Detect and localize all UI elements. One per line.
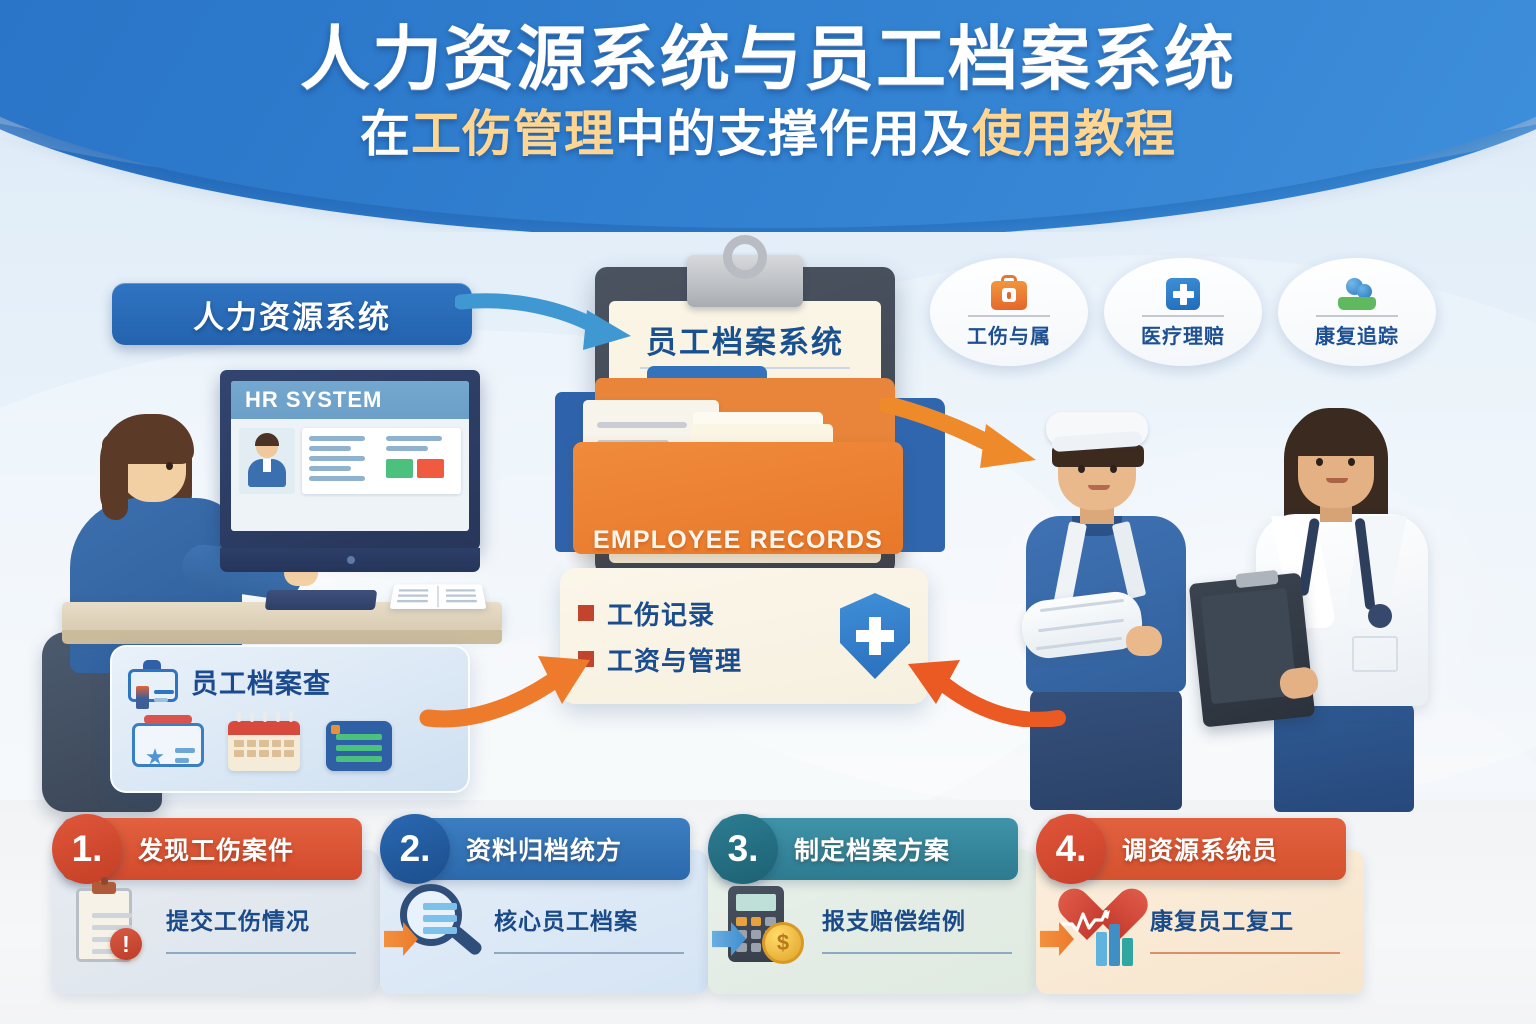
monitor-power-dot: [347, 556, 355, 564]
step-1-connector: [384, 922, 418, 956]
worker-legs: [1030, 688, 1182, 810]
bullet-square-icon: [578, 605, 594, 621]
step-3-header-text: 制定档案方案: [794, 831, 950, 867]
open-book: [390, 584, 487, 609]
document-icon: [324, 715, 398, 771]
book-lines-right: [446, 589, 476, 591]
bubble-injury-care[interactable]: 工伤与属: [930, 258, 1088, 366]
step-2-connector: [712, 922, 746, 956]
hr-record-view: [231, 419, 469, 503]
insurance-card-body: [132, 723, 204, 767]
clipboard-alert-icon: !: [70, 880, 152, 972]
bullet-text: 工资与管理: [607, 641, 742, 678]
badge-line-2: [154, 698, 168, 702]
bubble-divider: [1142, 315, 1224, 317]
insurance-line-2: [175, 758, 189, 763]
process-steps: 发现工伤案件 1. ! 提交工伤情况: [52, 818, 1484, 998]
kit-lock: [1002, 288, 1016, 302]
bubble-recovery[interactable]: 康复追踪: [1278, 258, 1436, 366]
bubble-label: 康复追踪: [1315, 320, 1399, 349]
badge-line-1: [154, 690, 174, 694]
step-4-content: 康复员工复工: [1054, 866, 1348, 986]
keyboard: [265, 590, 377, 610]
stethoscope-bell-icon: [1368, 604, 1392, 628]
bubble-label: 医疗理赔: [1141, 320, 1225, 349]
badge-photo: [136, 686, 149, 709]
clipboard-title: 员工档案系统: [595, 317, 895, 362]
calendar-icon: [228, 715, 302, 771]
step-2-header-text: 资料归档统方: [466, 831, 622, 867]
avatar-hair: [255, 433, 279, 446]
worker-eye-left: [1078, 465, 1085, 473]
doctor-mouth: [1326, 478, 1348, 483]
clipboard-line: [92, 913, 132, 918]
subtitle-part-2: 中的支撑作用及: [615, 105, 972, 163]
doctor-illustration: [1218, 386, 1468, 810]
detail-line: [309, 446, 351, 451]
subtitle-highlight-2: 使用教程: [972, 105, 1176, 163]
calendar-grid: [228, 735, 300, 762]
infographic-canvas: 人力资源系统与员工档案系统 在工伤管理中的支撑作用及使用教程 人力资源系统 HR…: [0, 0, 1536, 1024]
monitor-screen: HR SYSTEM: [231, 381, 469, 531]
status-swatch-green: [386, 459, 413, 478]
calendar-header: [228, 721, 300, 735]
detail-line: [386, 436, 442, 441]
detail-line: [309, 466, 351, 471]
detail-column-left: [309, 436, 377, 486]
status-swatch-red: [417, 459, 444, 478]
step-1-content: ! 提交工伤情况: [70, 866, 364, 986]
hr-monitor: HR SYSTEM: [220, 370, 480, 570]
first-aid-kit-icon: [989, 275, 1029, 311]
subtitle-highlight-1: 工伤管理: [411, 105, 615, 163]
step-card-4[interactable]: 调资源系统员 4. 康复员工复工: [1036, 818, 1364, 994]
step-3-connector: [1040, 922, 1074, 956]
bubble-medical-claim[interactable]: 医疗理赔: [1104, 258, 1262, 366]
list-item: 工伤记录: [578, 595, 834, 632]
doctor-hair: [1290, 408, 1382, 456]
status-swatches: [386, 459, 454, 478]
coin-icon: $: [762, 922, 804, 964]
bubble-label: 工伤与属: [967, 320, 1051, 349]
paper-line: [597, 422, 687, 428]
detail-line: [309, 436, 365, 441]
coat-pocket: [1352, 636, 1398, 672]
doctor-eye-right: [1348, 458, 1355, 466]
detail-line: [386, 446, 428, 451]
recovery-icon: [1337, 275, 1377, 311]
magnifier-line: [423, 915, 457, 922]
workplace-injury-summary-card: 工伤记录 工资与管理: [560, 568, 928, 704]
insurance-card-icon: [132, 715, 206, 771]
archive-card-header: 员工档案查: [128, 660, 452, 702]
medical-shield-icon: [840, 593, 910, 679]
desk-edge: [62, 630, 502, 644]
employee-avatar: [239, 428, 295, 494]
magnifier-line: [423, 927, 457, 934]
alert-exclamation-icon: !: [110, 928, 142, 960]
subtitle-part-1: 在: [360, 105, 411, 163]
step-4-text-wrap: 康复员工复工: [1150, 898, 1348, 954]
worker-eye-right: [1110, 465, 1117, 473]
worker-mouth: [1088, 485, 1110, 490]
archive-icon-row: [128, 715, 452, 771]
step-4-text: 康复员工复工: [1150, 902, 1348, 936]
page-title: 人力资源系统与员工档案系统: [0, 22, 1536, 96]
recovery-grass: [1338, 297, 1376, 310]
employee-detail-card: [302, 428, 461, 494]
insurance-emblem: [146, 748, 164, 766]
detail-line: [309, 456, 365, 461]
folder-label-text: EMPLOYEE RECORDS: [593, 526, 883, 555]
step-4-rule: [1150, 952, 1340, 954]
step-2-rule: [494, 952, 684, 954]
bubble-divider: [968, 315, 1050, 317]
injured-worker-doctor-scene: [960, 380, 1520, 810]
insurance-card-top-bar: [144, 715, 192, 724]
calendar-rings: [237, 711, 293, 722]
insurance-line-1: [175, 748, 195, 753]
step-1-text-wrap: 提交工伤情况: [166, 898, 364, 954]
calculator-screen: [736, 894, 776, 911]
worker-hand: [1126, 626, 1162, 656]
step-card-1[interactable]: 发现工伤案件 1. ! 提交工伤情况: [52, 818, 380, 994]
title-block: 人力资源系统与员工档案系统 在工伤管理中的支撑作用及使用教程: [0, 22, 1536, 161]
hr-system-screen-title: HR SYSTEM: [245, 387, 382, 413]
staff-hair-side: [102, 434, 128, 520]
step-2-content: 核心员工档案: [398, 866, 692, 986]
step-4-header-text: 调资源系统员: [1122, 831, 1278, 867]
step-card-2[interactable]: 资料归档统方 2. 核心员工档案: [380, 818, 708, 994]
bubble-divider: [1316, 315, 1398, 317]
clipboard-knob: [101, 877, 108, 885]
step-card-3[interactable]: 制定档案方案 3. $ 报支赔偿结例: [708, 818, 1036, 994]
staff-eye: [166, 462, 173, 470]
step-1-rule: [166, 952, 356, 954]
page-subtitle: 在工伤管理中的支撑作用及使用教程: [0, 108, 1536, 161]
employee-records-folders: EMPLOYEE RECORDS: [555, 372, 945, 572]
hr-system-label: 人力资源系统: [112, 283, 472, 345]
step-3-content: $ 报支赔偿结例: [726, 866, 1020, 986]
step-3-rule: [822, 952, 1012, 954]
magnifier-line: [423, 903, 457, 910]
id-badge-icon: [128, 660, 178, 702]
hr-system-titlebar: HR SYSTEM: [231, 381, 469, 419]
detail-column-right: [386, 436, 454, 486]
list-item: 工资与管理: [578, 641, 834, 678]
bullet-text: 工伤记录: [607, 595, 715, 632]
detail-line: [309, 476, 365, 481]
calendar-body: [228, 721, 300, 771]
clipboard-ring-icon: [723, 235, 767, 279]
book-lines-left: [399, 589, 429, 591]
step-3-text: 报支赔偿结例: [822, 902, 1020, 936]
step-2-text-wrap: 核心员工档案: [494, 898, 692, 954]
cross-horizontal: [1173, 291, 1194, 298]
step-3-text-wrap: 报支赔偿结例: [822, 898, 1020, 954]
badge-body: [128, 669, 178, 702]
medical-cross-icon: [1163, 275, 1203, 311]
step-1-text: 提交工伤情况: [166, 902, 364, 936]
document-lines: [336, 734, 382, 767]
step-1-header-text: 发现工伤案件: [138, 831, 294, 867]
hr-system-label-text: 人力资源系统: [193, 292, 391, 337]
document-body: [326, 721, 392, 771]
doctor-eye-left: [1316, 458, 1323, 466]
document-corner-tag: [331, 725, 340, 734]
archive-card-title: 员工档案查: [191, 662, 331, 701]
bullet-square-icon: [578, 651, 594, 667]
employee-archive-card: 员工档案查: [110, 645, 470, 793]
step-2-text: 核心员工档案: [494, 902, 692, 936]
service-bubble-group: 工伤与属 医疗理赔 康复追踪: [930, 258, 1450, 378]
shield-cross-horizontal: [856, 630, 894, 642]
monitor-frame: HR SYSTEM: [220, 370, 480, 550]
avatar-collar: [263, 459, 271, 472]
summary-bullet-list: 工伤记录 工资与管理: [578, 586, 834, 687]
doctor-legs: [1274, 702, 1414, 812]
